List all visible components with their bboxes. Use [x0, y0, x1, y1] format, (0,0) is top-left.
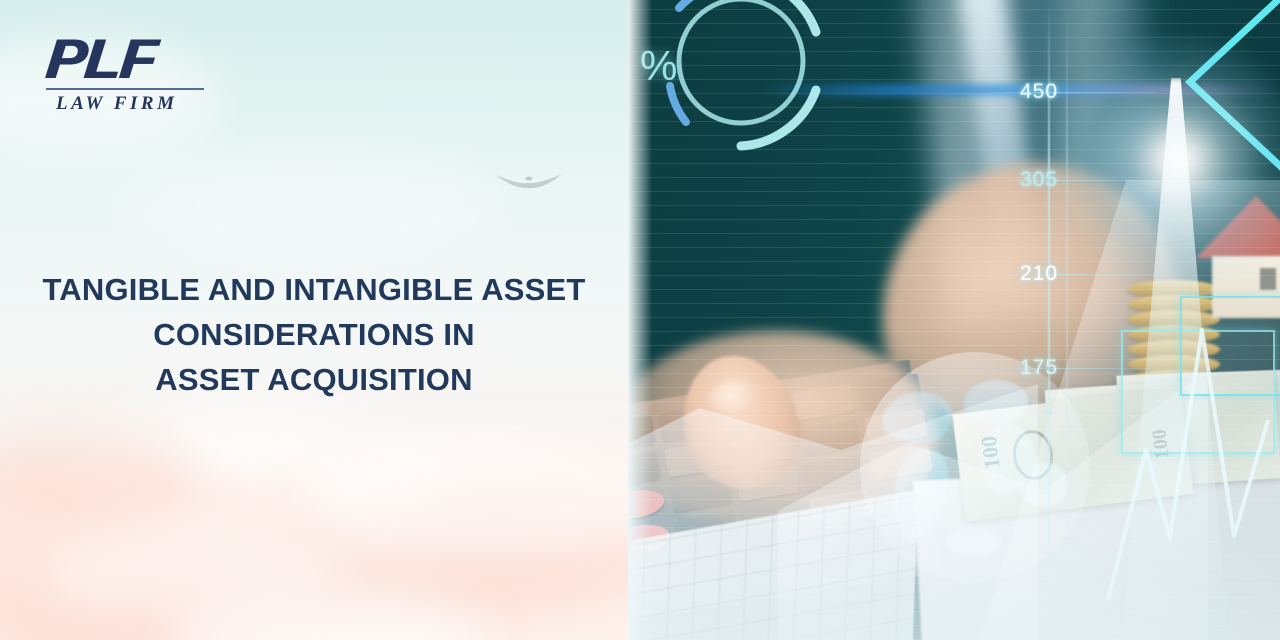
scale-label-175: 175 — [1020, 356, 1058, 380]
headline-line-1: TANGIBLE AND INTANGIBLE ASSET — [0, 267, 628, 312]
bird-icon — [494, 170, 564, 196]
hero-photo: 100 100 % — [628, 0, 1280, 640]
headline-line-3: ASSET ACQUISITION — [0, 357, 628, 402]
cloud-wisp — [40, 520, 340, 630]
scale-tick — [988, 274, 1158, 275]
photo-bottom-haze — [628, 470, 1280, 640]
cloud-wisp — [170, 600, 490, 640]
scale-label-210: 210 — [1020, 262, 1058, 286]
marketing-banner: PLF LAW FIRM TANGIBLE AND INTANGIBLE ASS… — [0, 0, 1280, 640]
headline-line-2: CONSIDERATIONS IN — [0, 312, 628, 357]
cloud-wisp — [420, 470, 628, 590]
scale-label-450: 450 — [1020, 80, 1058, 104]
plf-law-firm-logo[interactable]: PLF LAW FIRM — [46, 30, 216, 115]
logo-wordmark: PLF — [43, 30, 229, 87]
cloud-wisp — [300, 430, 628, 560]
scale-label-305: 305 — [1020, 168, 1058, 192]
left-content-panel: PLF LAW FIRM TANGIBLE AND INTANGIBLE ASS… — [0, 0, 628, 640]
logo-subtitle: LAW FIRM — [56, 93, 216, 115]
cloud-wisp — [120, 150, 500, 260]
cloud-wisp — [0, 430, 200, 530]
percent-gauge-icon: % — [646, 0, 836, 156]
scale-tick — [988, 180, 1158, 181]
scale-tick — [988, 368, 1158, 369]
page-title: TANGIBLE AND INTANGIBLE ASSET CONSIDERAT… — [0, 267, 628, 403]
scale-tick — [988, 92, 1158, 93]
